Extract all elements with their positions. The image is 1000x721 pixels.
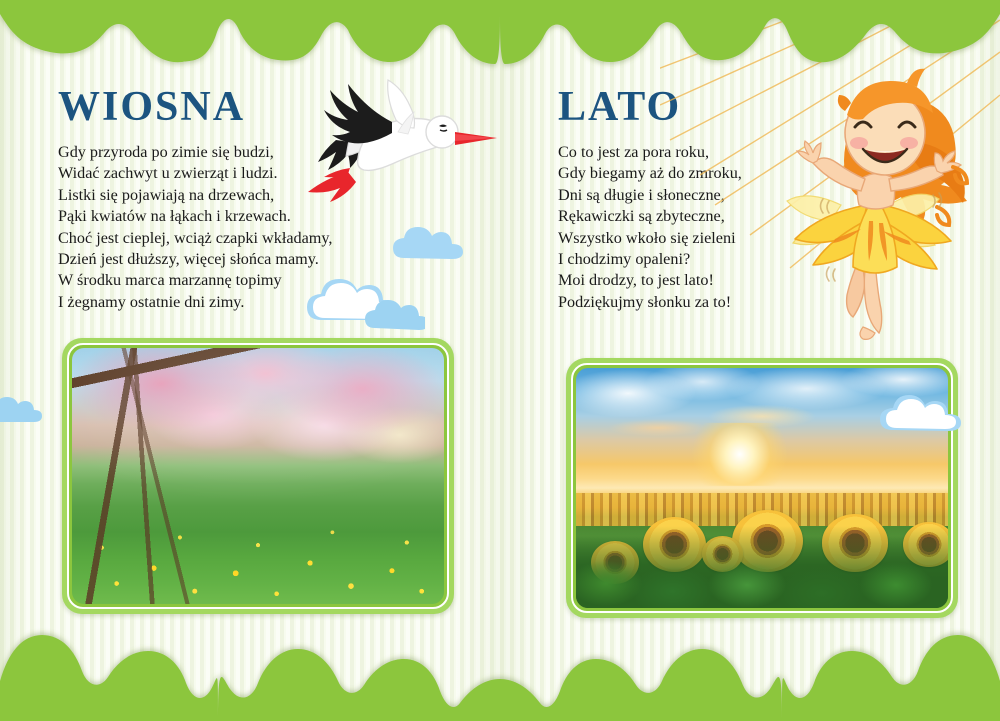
footer-section-label: Pory roku <box>72 683 132 697</box>
poem-line: Choć jest cieplej, wciąż czapki wkładamy… <box>58 228 332 249</box>
photo-summer-sunflower-field <box>576 368 948 608</box>
poem-line: Gdy biegamy aż do zmroku, <box>558 163 742 184</box>
book-page-spread: WIOSNA Gdy przyroda po zimie się budzi, … <box>0 0 1000 721</box>
footer-left: 20 Pory roku <box>30 681 132 699</box>
footer-right: Pory roku 21 <box>868 681 970 699</box>
photo-frame-inner-ring <box>571 363 953 613</box>
poem-line: Pąki kwiatów na łąkach i krzewach. <box>58 206 332 227</box>
poem-line: Podziękujmy słonku za to! <box>558 292 742 313</box>
photo-sunflower-leaves <box>576 526 948 608</box>
page-number: 20 <box>30 681 46 699</box>
poem-line: I żegnamy ostatnie dni zimy. <box>58 292 332 313</box>
photo-frame-spring <box>62 338 454 614</box>
photo-frame-inner-ring <box>67 343 449 609</box>
poem-wiosna: Gdy przyroda po zimie się budzi, Widać z… <box>58 142 332 313</box>
photo-spring-cherry-blossom <box>72 348 444 604</box>
poem-line: Moi drodzy, to jest lato! <box>558 270 742 291</box>
page-title-lato: LATO <box>558 86 681 128</box>
poem-line: Dzień jest dłuższy, więcej słońca mamy. <box>58 249 332 270</box>
poem-line: Gdy przyroda po zimie się budzi, <box>58 142 332 163</box>
photo-frame-summer <box>566 358 958 618</box>
page-title-wiosna: WIOSNA <box>58 86 245 128</box>
poem-lato: Co to jest za pora roku, Gdy biegamy aż … <box>558 142 742 313</box>
photo-setting-sun <box>684 423 796 485</box>
poem-line: Wszystko wkoło się zieleni <box>558 228 742 249</box>
page-number: 21 <box>954 681 970 699</box>
left-page: WIOSNA Gdy przyroda po zimie się budzi, … <box>0 0 500 721</box>
poem-line: Rękawiczki są zbyteczne, <box>558 206 742 227</box>
poem-line: I chodzimy opaleni? <box>558 249 742 270</box>
footer-section-label: Pory roku <box>868 683 928 697</box>
poem-line: Dni są długie i słoneczne, <box>558 185 742 206</box>
poem-line: Co to jest za pora roku, <box>558 142 742 163</box>
poem-line: Listki się pojawiają na drzewach, <box>58 185 332 206</box>
poem-line: Widać zachwyt u zwierząt i ludzi. <box>58 163 332 184</box>
poem-line: W środku marca marzannę topimy <box>58 270 332 291</box>
